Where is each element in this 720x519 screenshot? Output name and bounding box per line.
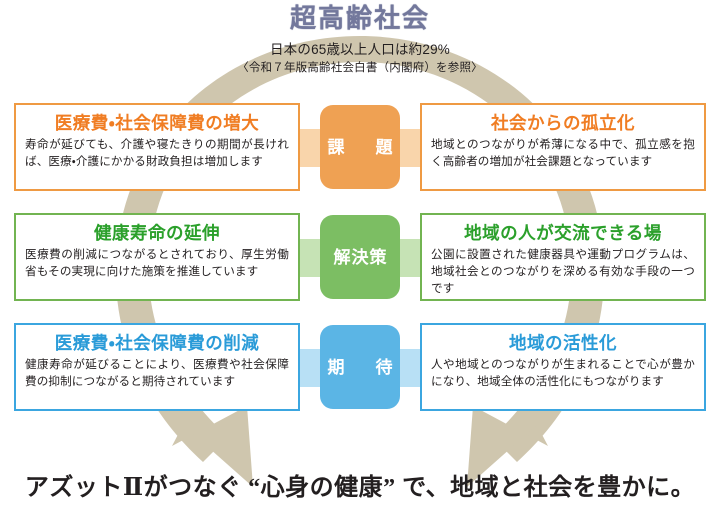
card-body: 地域とのつながりが希薄になる中で、孤立感を抱く高齢者の増加が社会課題となっていま… [431,137,695,171]
page-title: 超高齢社会 [0,4,720,33]
card-expectation-left[interactable]: 医療費・社会保障費の削減 健康寿命が延びることにより、医療費や社会保障費の抑制に… [14,323,300,411]
card-title: 健康寿命の延伸 [25,223,289,243]
card-issue-right[interactable]: 社会からの孤立化 地域とのつながりが希薄になる中で、孤立感を抱く高齢者の増加が社… [420,103,706,191]
card-body: 寿命が延びても、介護や寝たきりの期間が長ければ、医療・介護にかかる財政負担は増加… [25,137,289,171]
badge-solution: 解決策 [320,215,400,299]
card-title: 医療費・社会保障費の削減 [25,333,289,353]
card-expectation-right[interactable]: 地域の活性化 人や地域とのつながりが生まれることで心が豊かになり、地域全体の活性… [420,323,706,411]
subtitle-source: 〈令和７年版高齢社会白書（内閣府）を参照〉 [0,61,720,75]
badge-label: 期 待 [321,359,400,376]
card-body: 公園に設置された健康器具や運動プログラムは、地域社会とのつながりを深める有効な手… [431,247,695,297]
card-title: 地域の人が交流できる場 [431,223,695,243]
badge-expectation: 期 待 [320,325,400,409]
card-solution-right[interactable]: 地域の人が交流できる場 公園に設置された健康器具や運動プログラムは、地域社会との… [420,213,706,301]
badge-label: 課 題 [321,139,400,156]
badge-issue: 課 題 [320,105,400,189]
footer-tagline: アズットⅡがつなぐ “心身の健康” で、地域と社会を豊かに。 [0,467,720,502]
card-title: 地域の活性化 [431,333,695,353]
row-issue: 医療費・社会保障費の増大 寿命が延びても、介護や寝たきりの期間が長ければ、医療・… [0,103,720,193]
header: 超高齢社会 日本の65歳以上人口は約29% 〈令和７年版高齢社会白書（内閣府）を… [0,4,720,75]
badge-label: 解決策 [333,249,388,266]
row-expectation: 医療費・社会保障費の削減 健康寿命が延びることにより、医療費や社会保障費の抑制に… [0,323,720,413]
card-solution-left[interactable]: 健康寿命の延伸 医療費の削減につながるとされており、厚生労働省もその実現に向けた… [14,213,300,301]
card-issue-left[interactable]: 医療費・社会保障費の増大 寿命が延びても、介護や寝たきりの期間が長ければ、医療・… [14,103,300,191]
infographic-canvas: 超高齢社会 日本の65歳以上人口は約29% 〈令和７年版高齢社会白書（内閣府）を… [0,0,720,519]
card-body: 人や地域とのつながりが生まれることで心が豊かになり、地域全体の活性化にもつながり… [431,357,695,391]
card-title: 社会からの孤立化 [431,113,695,133]
card-title: 医療費・社会保障費の増大 [25,113,289,133]
subtitle-primary: 日本の65歳以上人口は約29% [0,42,720,59]
card-body: 医療費の削減につながるとされており、厚生労働省もその実現に向けた施策を推進してい… [25,247,289,281]
row-solution: 健康寿命の延伸 医療費の削減につながるとされており、厚生労働省もその実現に向けた… [0,213,720,303]
card-body: 健康寿命が延びることにより、医療費や社会保障費の抑制につながると期待されています [25,357,289,391]
